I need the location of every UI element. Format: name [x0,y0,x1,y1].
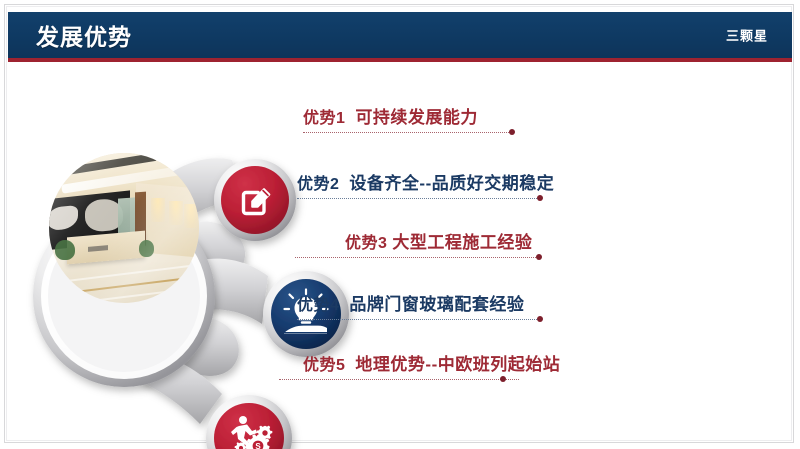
advantage-1-end-dot [509,129,515,135]
advantage-3-underline [295,257,538,259]
advantage-5-underline [279,379,519,381]
brand-label: 三颗星 [726,26,768,45]
photo-glass-sheen [49,153,199,303]
advantage-1-text: 优势1可持续发展能力 [303,107,478,130]
advantage-3-label: 大型工程施工经验 [392,233,532,252]
advantage-3-end-dot [536,254,542,260]
advantage-1-label: 可持续发展能力 [355,108,478,127]
advantage-4-index: 优势4 [297,297,339,314]
advantage-4-underline [297,319,537,321]
header-accent-rule [8,58,792,62]
advantage-1-underline [303,132,509,134]
advantage-4-label: 品牌门窗玻璃配套经验 [349,295,524,314]
office-lobby-photo [49,153,199,303]
header-bar: 发展优势 三颗星 [8,12,792,58]
advantage-5-text: 优势5地理优势--中欧班列起始站 [303,354,560,377]
advantage-1-index: 优势1 [303,110,345,127]
page-title: 发展优势 [36,18,132,52]
advantage-5-label: 地理优势--中欧班列起始站 [355,355,560,374]
svg-text:S: S [255,442,261,449]
advantage-3-index: 优势3 [345,235,387,252]
advantage-2-text: 优势2设备齐全--品质好交期稳定 [297,173,554,196]
advantage-3-text: 优势3大型工程施工经验 [345,232,532,255]
advantage-4-text: 优势4品牌门窗玻璃配套经验 [297,294,524,317]
advantage-5-end-dot [500,376,506,382]
advantage-4-end-dot [537,316,543,322]
advantage-2-index: 优势2 [297,176,339,193]
advantage-2-end-dot [537,195,543,201]
slide-canvas: 发展优势 三颗星 [0,0,800,449]
advantage-2-label: 设备齐全--品质好交期稳定 [349,174,554,193]
advantage-2-underline [297,198,537,200]
advantage-5-index: 优势5 [303,357,345,374]
